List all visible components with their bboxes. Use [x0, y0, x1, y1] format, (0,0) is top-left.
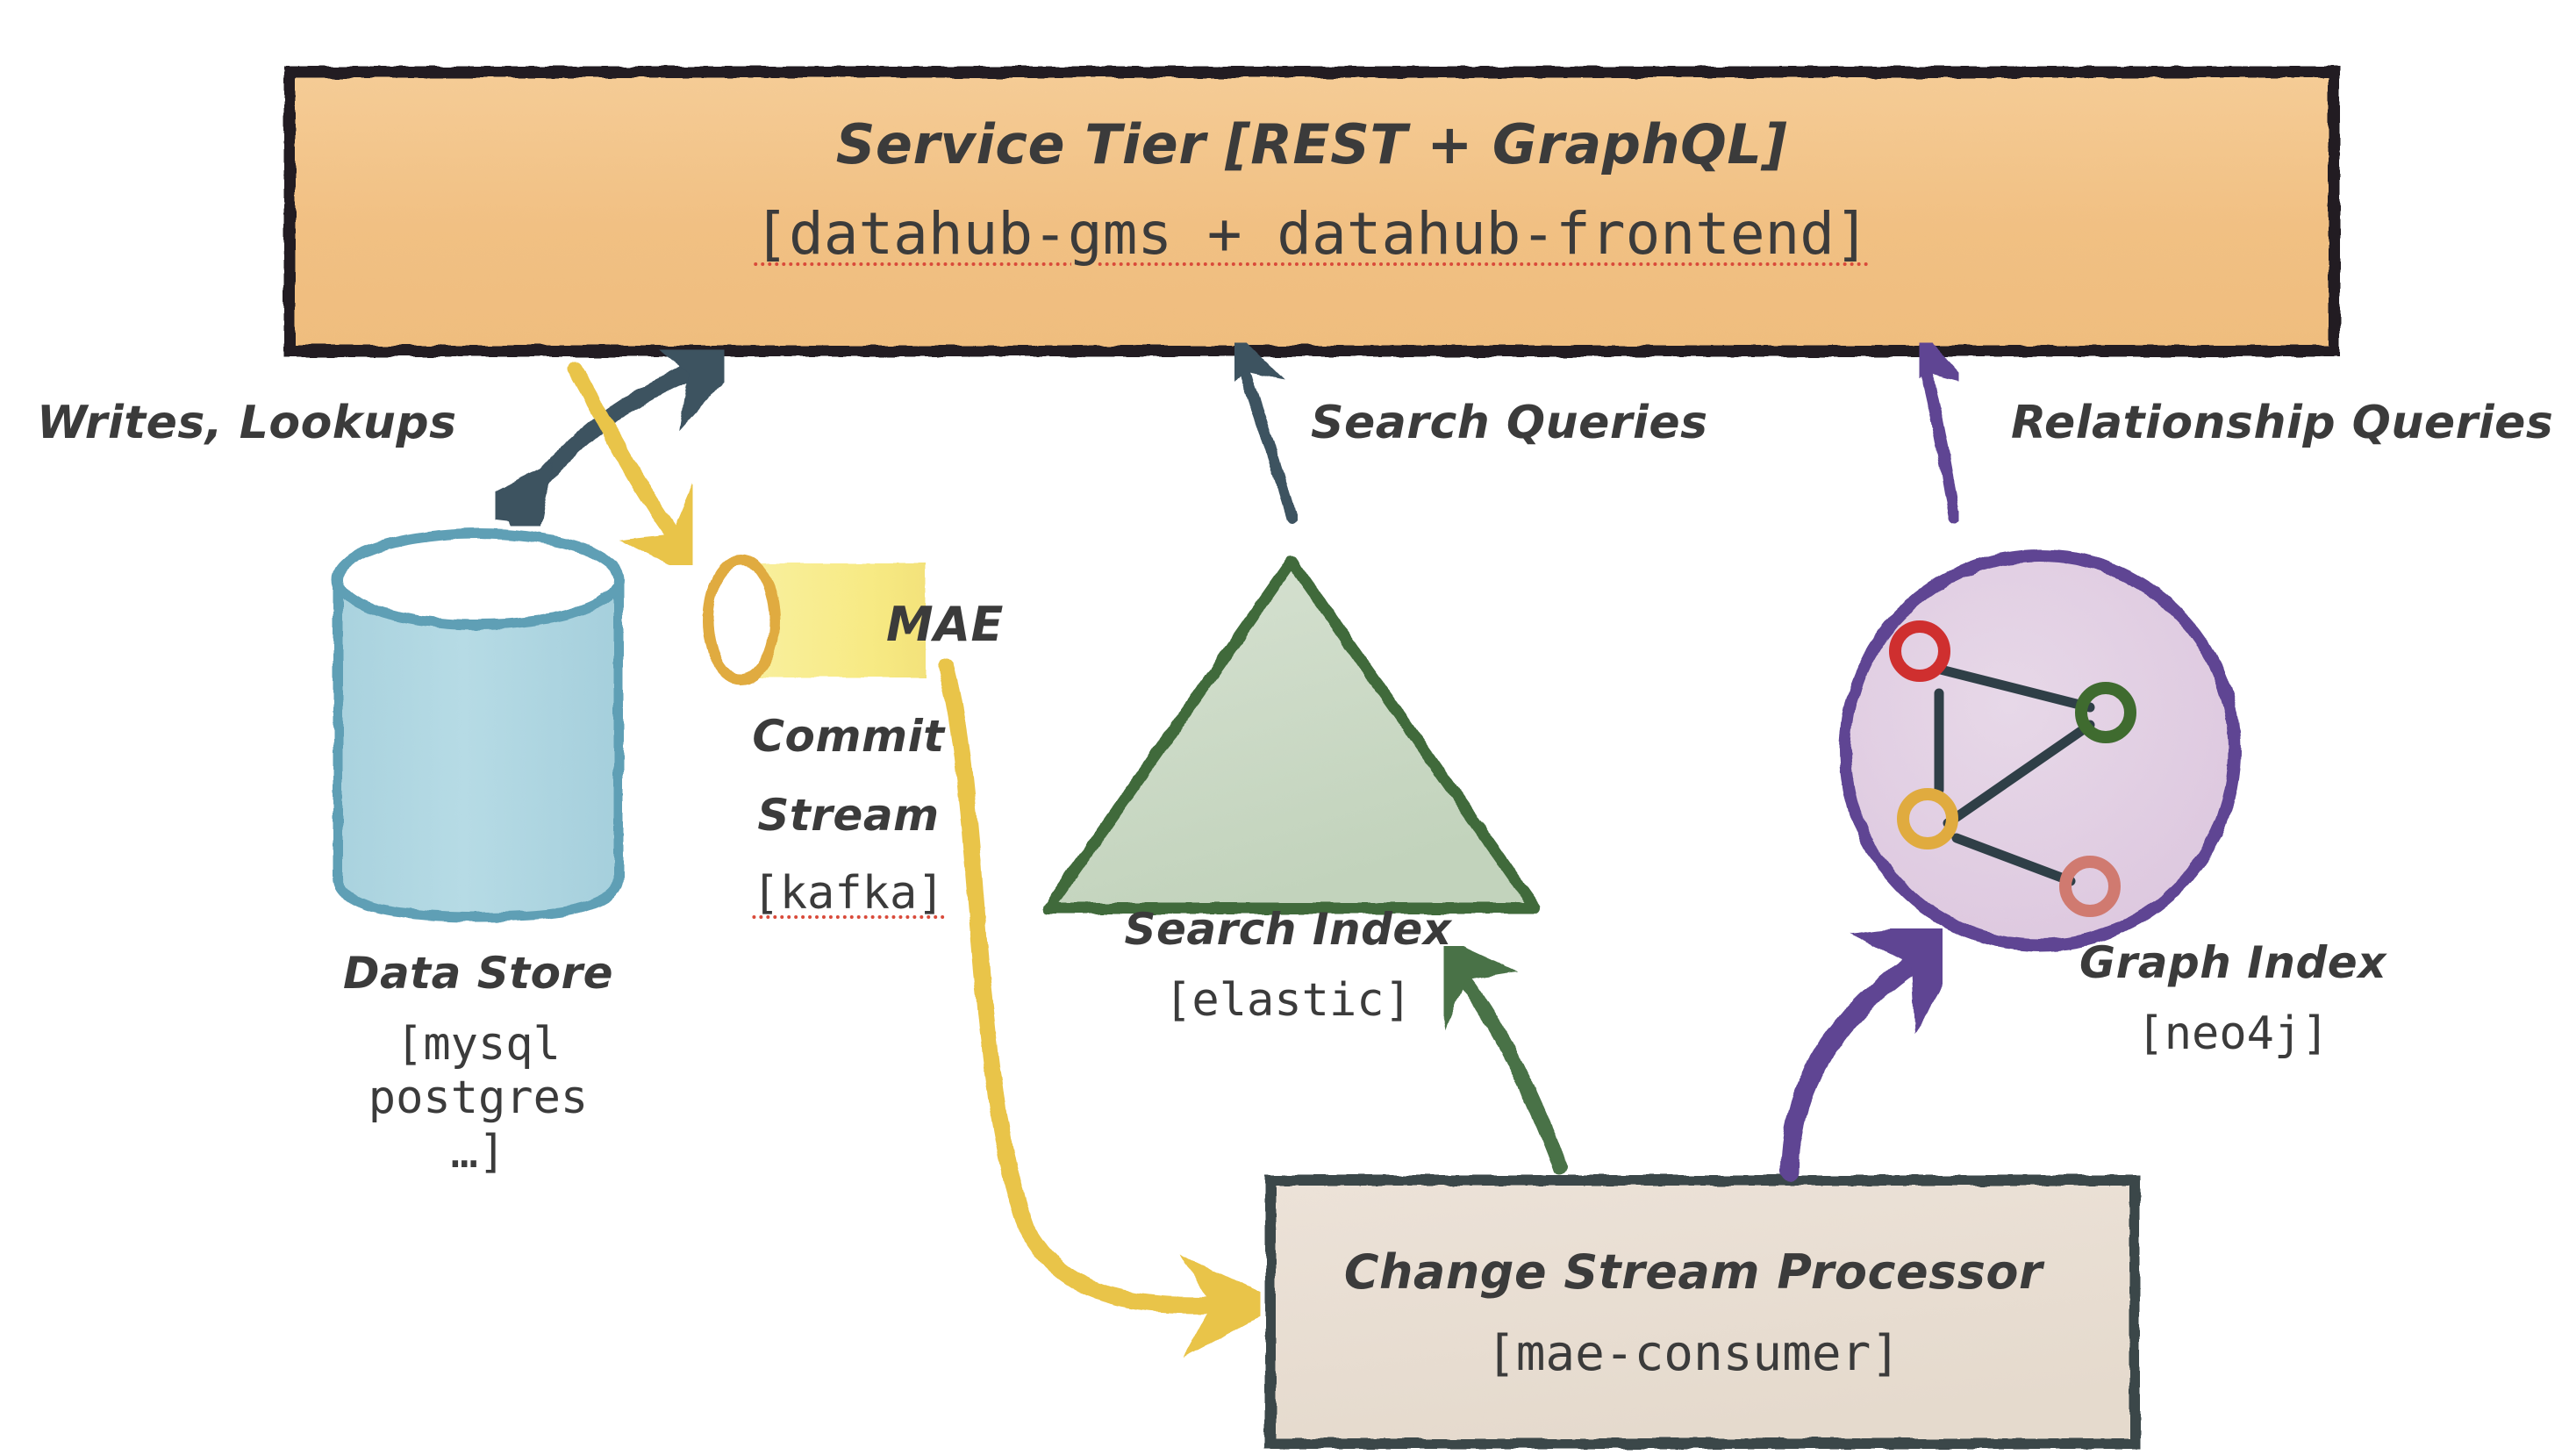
search-index-node[interactable]	[1048, 562, 1535, 908]
data-store-tech: [mysql postgres …]	[369, 1018, 588, 1179]
commit-stream-caption-line2: Stream	[757, 790, 939, 842]
service-tier-title: Service Tier [REST + GraphQL]	[836, 112, 1787, 176]
graph-index-caption: Graph Index	[2079, 937, 2386, 989]
edge-mae-emit	[575, 369, 680, 544]
data-store-node[interactable]	[338, 534, 619, 917]
edge-label-writes-lookups: Writes, Lookups	[37, 397, 457, 450]
edge-label-search-queries: Search Queries	[1311, 397, 1708, 450]
edge-search-queries	[1241, 362, 1292, 518]
edge-index-graph	[1790, 955, 1926, 1172]
change-stream-processor-tech: [mae-consumer]	[1486, 1325, 1900, 1383]
data-store-caption: Data Store	[343, 948, 613, 1000]
service-tier-subtitle: [datahub-gms + datahub-frontend]	[754, 200, 1870, 269]
architecture-diagram-canvas: Service Tier [REST + GraphQL] [datahub-g…	[0, 0, 2576, 1455]
edge-index-search	[1456, 970, 1560, 1167]
search-index-tech: [elastic]	[1164, 974, 1412, 1028]
commit-stream-tech: [kafka]	[752, 867, 944, 921]
change-stream-processor-node[interactable]	[1270, 1180, 2135, 1444]
graph-index-tech: [neo4j]	[2136, 1007, 2329, 1061]
search-index-caption: Search Index	[1124, 904, 1451, 956]
edge-label-relationship-queries: Relationship Queries	[2011, 397, 2553, 450]
commit-stream-mae-badge: MAE	[886, 597, 1004, 653]
edge-relationship-queries	[1923, 362, 1955, 518]
change-stream-processor-caption: Change Stream Processor	[1344, 1244, 2043, 1301]
graph-index-node[interactable]	[1845, 555, 2235, 945]
commit-stream-caption-line1: Commit	[752, 711, 944, 763]
